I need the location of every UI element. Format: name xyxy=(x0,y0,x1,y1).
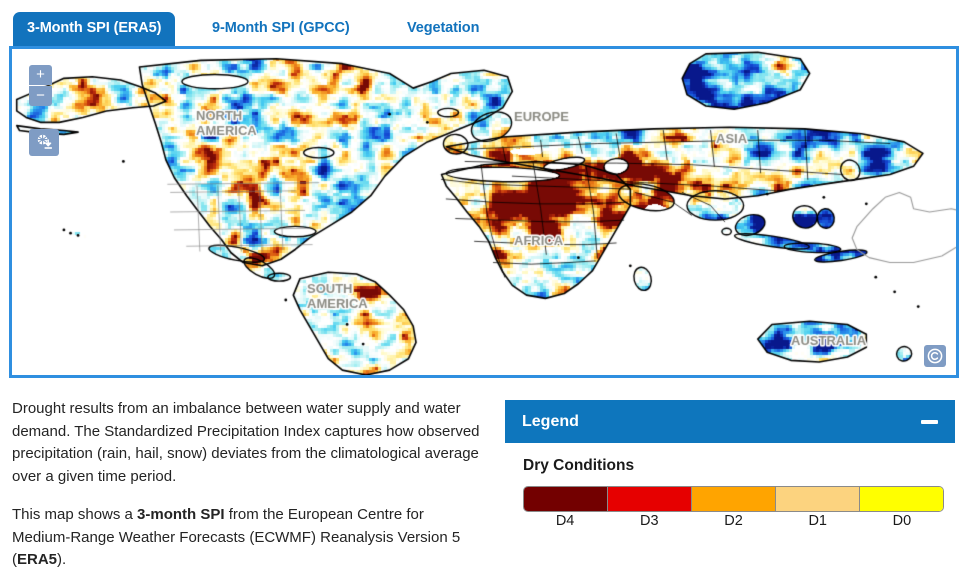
legend-swatch-d2 xyxy=(692,487,776,511)
legend-label-d2: D2 xyxy=(691,513,775,529)
legend-label-d1: D1 xyxy=(776,513,860,529)
description-paragraph-2: This map shows a 3-month SPI from the Eu… xyxy=(12,504,482,572)
desc-p2-part-a: This map shows a xyxy=(12,506,137,523)
legend-header[interactable]: Legend xyxy=(505,400,955,443)
legend-label-d3: D3 xyxy=(607,513,691,529)
legend-label-d4: D4 xyxy=(523,513,607,529)
zoom-out-button[interactable]: − xyxy=(29,86,52,106)
basemap-download-icon[interactable] xyxy=(29,129,59,156)
description-paragraph-1: Drought results from an imbalance betwee… xyxy=(12,398,482,488)
desc-p2-bold-spi: 3-month SPI xyxy=(137,506,225,523)
legend-subtitle: Dry Conditions xyxy=(523,457,937,475)
legend-title: Legend xyxy=(522,413,579,431)
minus-icon[interactable] xyxy=(921,420,938,424)
legend-swatch-d3 xyxy=(608,487,692,511)
legend-panel: Legend Dry Conditions D4D3D2D1D0 xyxy=(505,400,955,529)
desc-p2-bold-era5: ERA5 xyxy=(17,551,57,568)
legend-class-labels: D4D3D2D1D0 xyxy=(523,513,944,529)
legend-body: Dry Conditions D4D3D2D1D0 xyxy=(505,443,955,529)
copyright-icon[interactable] xyxy=(924,345,946,367)
world-spi-map[interactable] xyxy=(12,49,956,375)
legend-swatch-d1 xyxy=(776,487,860,511)
legend-color-ramp xyxy=(523,486,944,512)
legend-swatch-d0 xyxy=(860,487,943,511)
map-container[interactable]: + − xyxy=(9,46,959,378)
legend-label-d0: D0 xyxy=(860,513,944,529)
description-panel: Drought results from an imbalance betwee… xyxy=(12,398,482,588)
desc-p2-part-e: ). xyxy=(57,551,66,568)
tab-bar: 3-Month SPI (ERA5) 9-Month SPI (GPCC) Ve… xyxy=(0,0,967,46)
tab-3-month-spi[interactable]: 3-Month SPI (ERA5) xyxy=(13,12,175,46)
zoom-in-button[interactable]: + xyxy=(29,65,52,85)
tab-9-month-spi[interactable]: 9-Month SPI (GPCC) xyxy=(212,12,350,46)
tab-vegetation[interactable]: Vegetation xyxy=(407,12,479,46)
legend-swatch-d4 xyxy=(524,487,608,511)
